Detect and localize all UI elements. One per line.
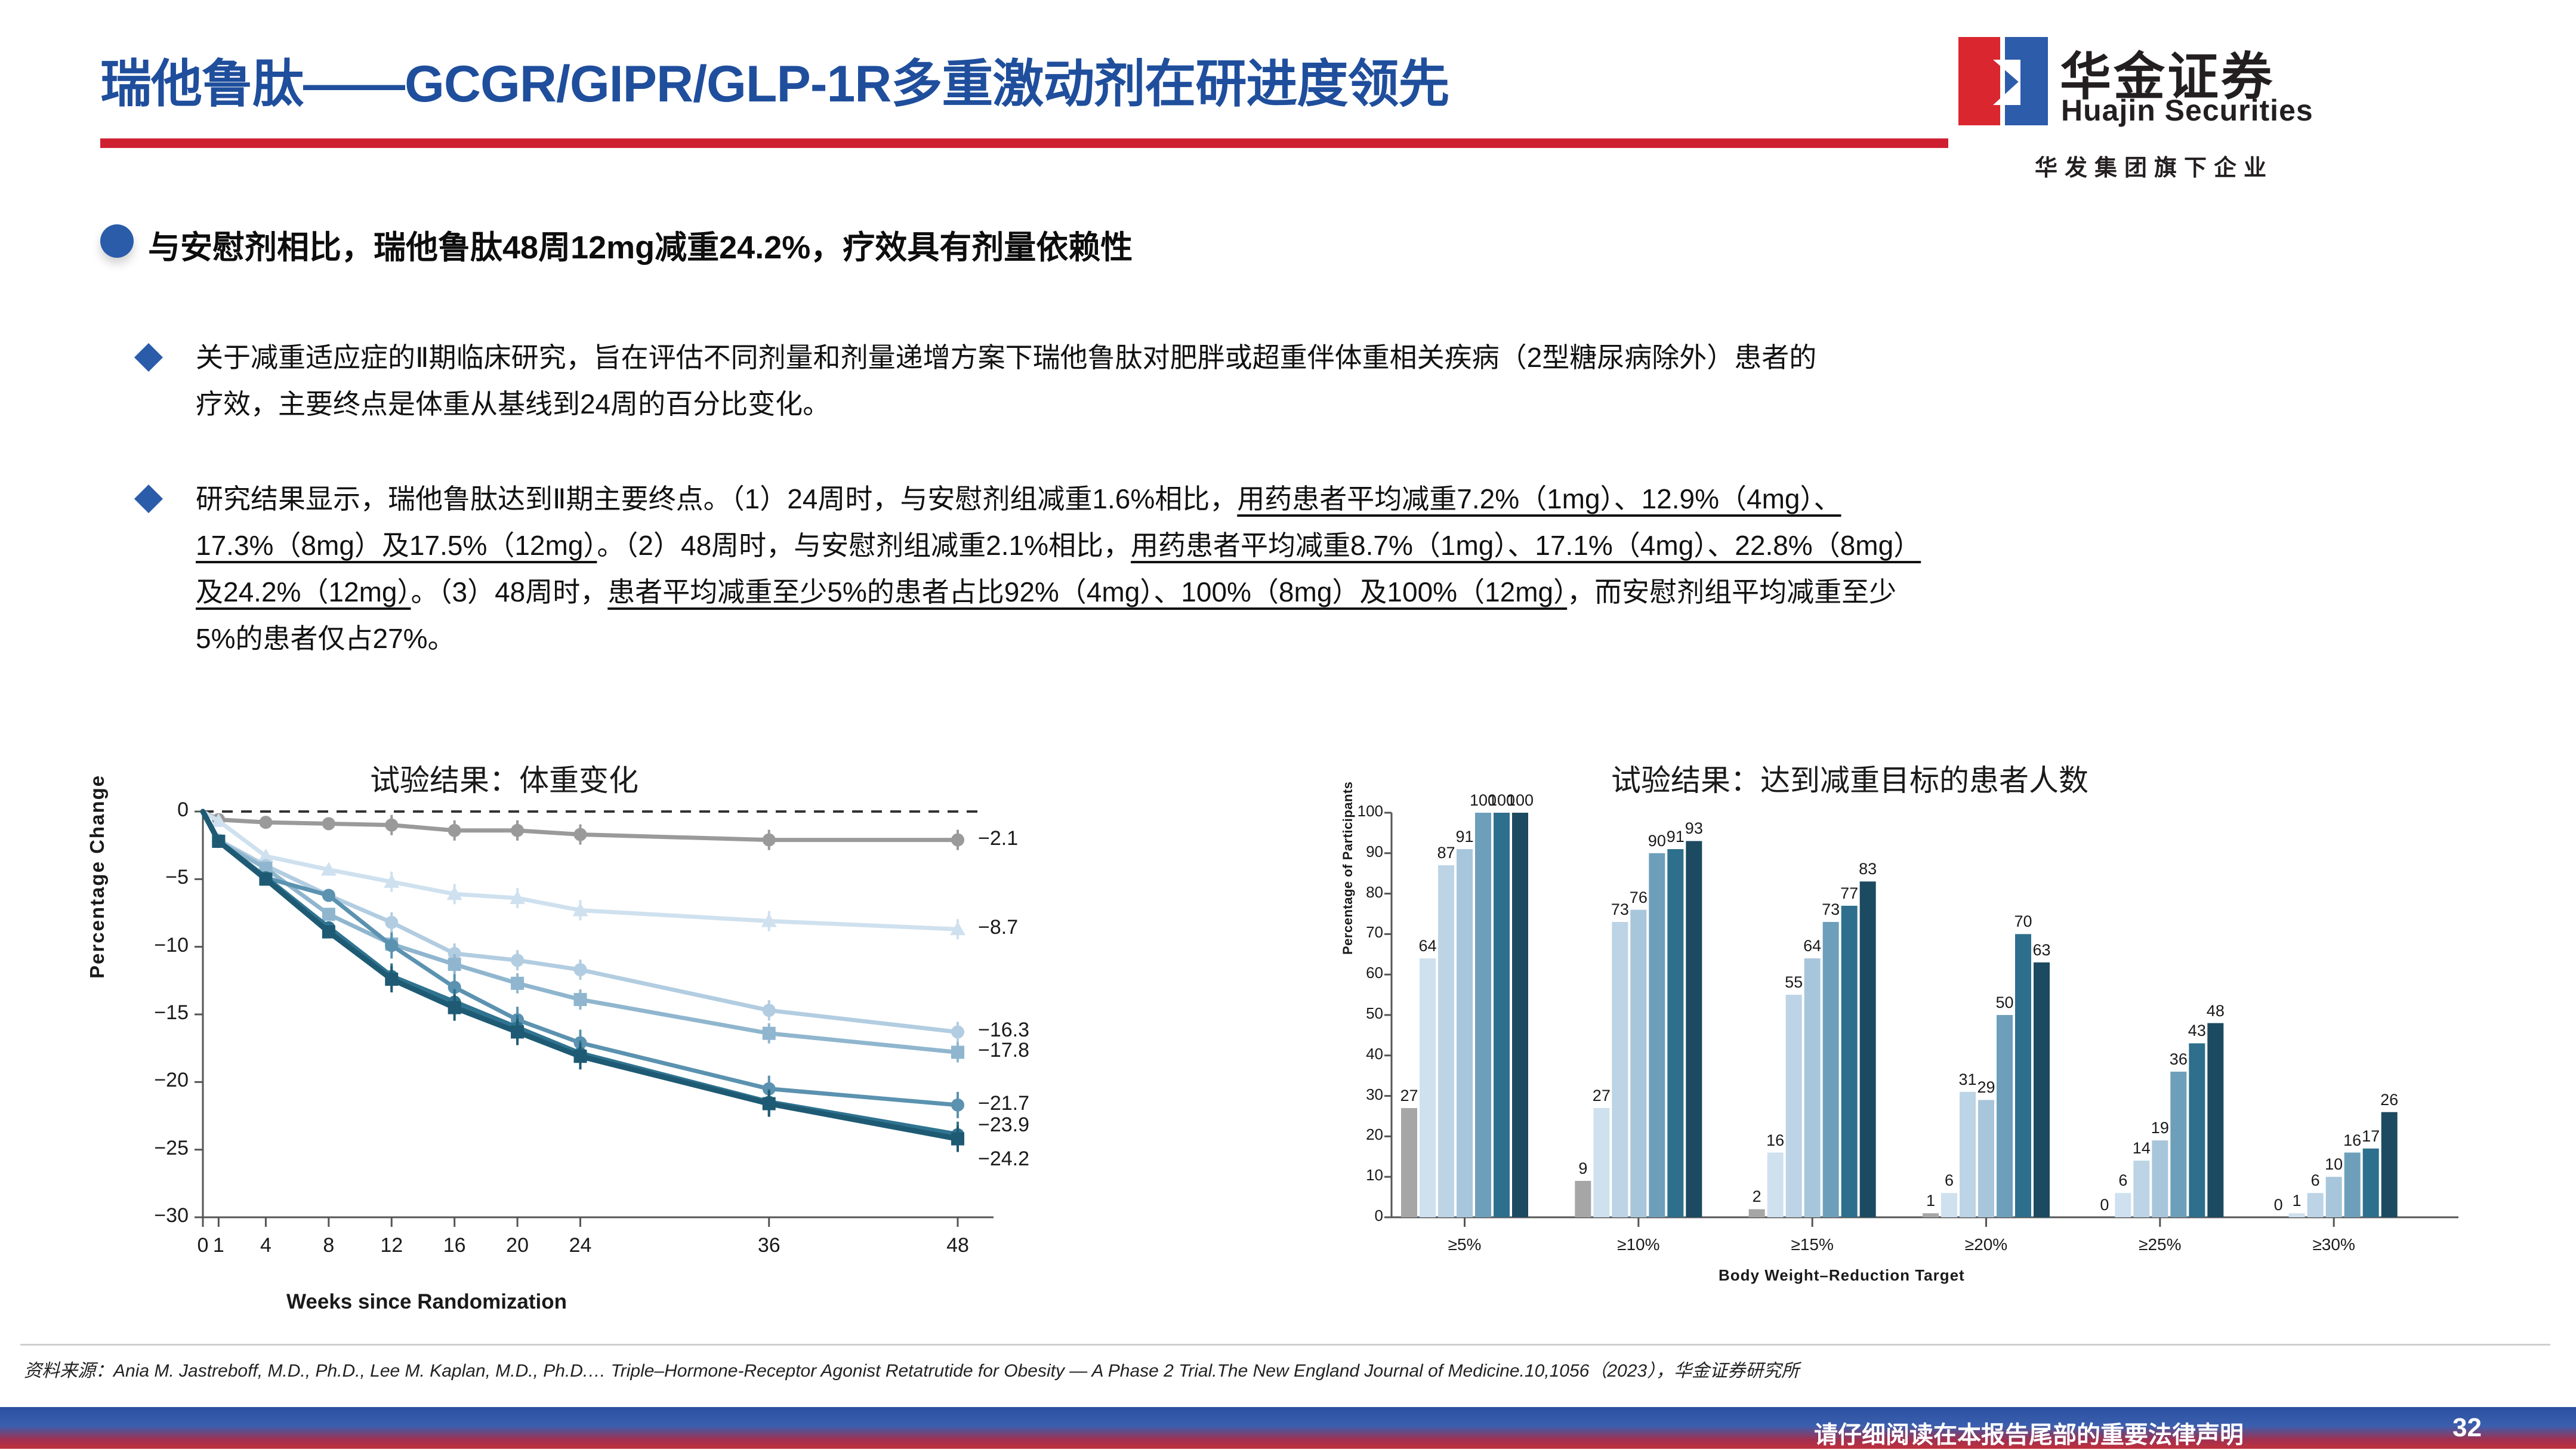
line-chart-y-tick: −15: [134, 1001, 189, 1025]
p2-seg-5: 用药患者平均减重8.7%（1mg）、17.1%（4mg）、22.8%（8mg）: [1131, 530, 1921, 561]
line-chart-y-tick: −30: [134, 1204, 189, 1227]
p2-seg-4: 。（2）48周时，与安慰剂组减重2.1%相比，: [597, 530, 1131, 561]
line-chart-x-tick: 36: [745, 1234, 793, 1257]
p2-seg-3: 17.3%（8mg）及17.5%（12mg）: [196, 530, 597, 561]
source-label: 资料来源：: [24, 1361, 113, 1381]
line-chart-x-tick: 48: [934, 1234, 982, 1257]
bar-chart-y-tick: 80: [1347, 883, 1383, 902]
bar-value-label: 9: [1569, 1159, 1597, 1178]
bar-chart-plot: 010203040506070809010027648791100100100≥…: [1337, 800, 2500, 1265]
bar-value-label: 73: [1816, 900, 1845, 919]
bar-value-label: 93: [1680, 819, 1708, 838]
bar-chart-x-axis-label: Body Weight–Reduction Target: [1719, 1266, 1965, 1285]
line-chart-y-tick: −10: [134, 934, 189, 957]
bar-value-label: 87: [1432, 844, 1461, 862]
title-underline-rule: [100, 138, 1948, 148]
left-chart-title: 试验结果：体重变化: [370, 757, 638, 800]
bar-value-label: 0: [2090, 1196, 2119, 1214]
line-chart-end-label: −17.8: [978, 1039, 1029, 1062]
bar-chart-y-tick: 90: [1347, 843, 1383, 861]
line-chart-end-label: −2.1: [978, 827, 1018, 850]
bar-value-label: 2: [1742, 1187, 1771, 1206]
bar-chart-y-tick: 70: [1347, 923, 1383, 942]
paragraph-1: 关于减重适应症的Ⅱ期临床研究，旨在评估不同剂量和剂量递增方案下瑞他鲁肽对肥胖或超…: [138, 334, 2531, 427]
bar-value-label: 19: [2146, 1119, 2174, 1137]
lead-bullet-dot-icon: [100, 224, 134, 258]
source-text: Ania M. Jastreboff, M.D., Ph.D., Lee M. …: [113, 1361, 1799, 1381]
line-chart-end-label: −23.9: [978, 1113, 1029, 1137]
bar-value-label: 48: [2201, 1002, 2230, 1020]
bar-chart-y-tick: 20: [1347, 1125, 1383, 1144]
bar-value-label: 27: [1587, 1087, 1616, 1105]
line-chart-y-tick: −5: [134, 866, 189, 889]
line-chart-end-label: −21.7: [978, 1092, 1029, 1115]
source-note: 资料来源：Ania M. Jastreboff, M.D., Ph.D., Le…: [24, 1356, 1799, 1382]
line-chart-plot: [90, 800, 1104, 1283]
lead-bullet-text: 与安慰剂相比，瑞他鲁肽48周12mg减重24.2%，疗效具有剂量依赖性: [148, 221, 1133, 268]
bar-value-label: 63: [2028, 941, 2056, 960]
bar-value-label: 36: [2164, 1050, 2193, 1069]
bar-value-label: 6: [1935, 1171, 1964, 1190]
paragraph-2: 研究结果显示，瑞他鲁肽达到Ⅱ期主要终点。（1）24周时，与安慰剂组减重1.6%相…: [138, 476, 2531, 662]
bar-value-label: 6: [2109, 1171, 2137, 1190]
bar-value-label: 76: [1624, 888, 1653, 907]
bar-chart-y-tick: 50: [1347, 1004, 1383, 1023]
line-chart-x-axis-label: Weeks since Randomization: [286, 1290, 567, 1314]
bar-chart-y-tick: 0: [1347, 1207, 1383, 1225]
bar-chart-y-tick: 30: [1347, 1085, 1383, 1104]
p2-seg-2: 用药患者平均减重7.2%（1mg）、12.9%（4mg）、: [1237, 483, 1841, 514]
line-chart-x-tick: 24: [557, 1234, 604, 1257]
bar-value-label: 10: [2319, 1155, 2348, 1174]
paragraph-1-line-1: 关于减重适应症的Ⅱ期临床研究，旨在评估不同剂量和剂量递增方案下瑞他鲁肽对肥胖或超…: [196, 334, 2531, 381]
line-chart-x-tick: 1: [195, 1234, 242, 1257]
bar-value-label: 16: [1761, 1131, 1790, 1150]
paragraph-1-line-2: 疗效，主要终点是体重从基线到24周的百分比变化。: [196, 381, 2531, 427]
p2-seg-10: 5%的患者仅占27%。: [196, 623, 455, 654]
bar-chart-x-tick: ≥5%: [1420, 1235, 1510, 1254]
bar-chart-y-tick: 100: [1347, 802, 1383, 820]
bar-value-label: 29: [1972, 1078, 2001, 1097]
bar-chart-x-tick: ≥30%: [2289, 1235, 2378, 1254]
diamond-bullet-icon: [134, 485, 163, 513]
p2-seg-7: 。（3）48周时，: [411, 576, 608, 607]
right-chart-title: 试验结果：达到减重目标的患者人数: [1611, 757, 2088, 800]
weight-target-bar-chart: Percentage of Participants Body Weight–R…: [1337, 800, 2500, 1325]
p2-seg-9: ，而安慰剂组平均减重至少: [1567, 576, 1896, 607]
bar-value-label: 83: [1853, 860, 1882, 878]
line-chart-x-tick: 12: [368, 1234, 415, 1257]
bar-value-label: 17: [2356, 1127, 2385, 1146]
bar-value-label: 6: [2301, 1171, 2330, 1190]
lead-bullet: 与安慰剂相比，瑞他鲁肽48周12mg减重24.2%，疗效具有剂量依赖性: [100, 221, 1890, 263]
slide-header: 瑞他鲁肽——GCGR/GIPR/GLP-1R多重激动剂在研进度领先 华金证券 H…: [0, 0, 2576, 179]
bar-chart-x-tick: ≥15%: [1767, 1235, 1857, 1254]
line-chart-x-tick: 20: [493, 1234, 541, 1257]
line-chart-end-label: −8.7: [978, 916, 1018, 939]
line-chart-x-tick: 16: [431, 1234, 479, 1257]
bar-value-label: 26: [2375, 1091, 2404, 1109]
bar-value-label: 43: [2183, 1022, 2211, 1040]
bar-value-label: 1: [1917, 1192, 1945, 1210]
p2-seg-1: 研究结果显示，瑞他鲁肽达到Ⅱ期主要终点。（1）24周时，与安慰剂组减重1.6%相…: [196, 483, 1237, 514]
bar-chart-y-tick: 40: [1347, 1045, 1383, 1063]
bar-value-label: 50: [1991, 994, 2019, 1012]
bar-chart-y-tick: 60: [1347, 964, 1383, 982]
footer-page-number: 32: [2452, 1413, 2482, 1443]
line-chart-y-tick: −25: [134, 1137, 189, 1160]
bar-value-label: 77: [1835, 884, 1864, 903]
bar-value-label: 70: [2009, 912, 2038, 931]
footer-legal-notice: 请仔细阅读在本报告尾部的重要法律声明: [1814, 1415, 2244, 1450]
page-title: 瑞他鲁肽——GCGR/GIPR/GLP-1R多重激动剂在研进度领先: [100, 42, 1449, 116]
weight-change-line-chart: Percentage Change Weeks since Randomizat…: [90, 800, 1104, 1325]
huajin-securities-logo: 华金证券 Huajin Securities: [1958, 31, 2364, 132]
logo-h-mark-icon: [1958, 37, 2048, 125]
logo-name-en: Huajin Securities: [2061, 93, 2313, 128]
bar-chart-x-tick: ≥10%: [1594, 1235, 1683, 1254]
line-chart-y-tick: −20: [134, 1069, 189, 1092]
bar-value-label: 64: [1798, 937, 1827, 955]
line-chart-y-tick: 0: [134, 798, 189, 822]
bar-value-label: 27: [1395, 1087, 1424, 1105]
p2-seg-6: 及24.2%（12mg）: [196, 576, 411, 607]
line-chart-end-label: −24.2: [978, 1147, 1029, 1171]
p2-seg-8: 患者平均减重至少5%的患者占比92%（4mg）、100%（8mg）及100%（1…: [607, 576, 1567, 607]
diamond-bullet-icon: [134, 343, 163, 372]
bar-value-label: 91: [1451, 828, 1479, 846]
bar-chart-x-tick: ≥20%: [1942, 1235, 2031, 1254]
bar-chart-y-tick: 10: [1347, 1166, 1383, 1184]
bar-value-label: 14: [2127, 1139, 2156, 1158]
line-chart-y-axis-label: Percentage Change: [86, 775, 109, 979]
logo-subtitle: 华发集团旗下企业: [2035, 149, 2273, 182]
source-divider: [20, 1344, 2550, 1346]
bar-chart-x-tick: ≥25%: [2115, 1235, 2205, 1254]
bar-value-label: 55: [1779, 973, 1808, 992]
line-chart-x-tick: 4: [242, 1234, 289, 1257]
bar-value-label: 100: [1506, 791, 1535, 810]
bar-value-label: 64: [1414, 937, 1442, 955]
line-chart-x-tick: 8: [305, 1234, 353, 1257]
bar-value-label: 1: [2282, 1192, 2311, 1210]
